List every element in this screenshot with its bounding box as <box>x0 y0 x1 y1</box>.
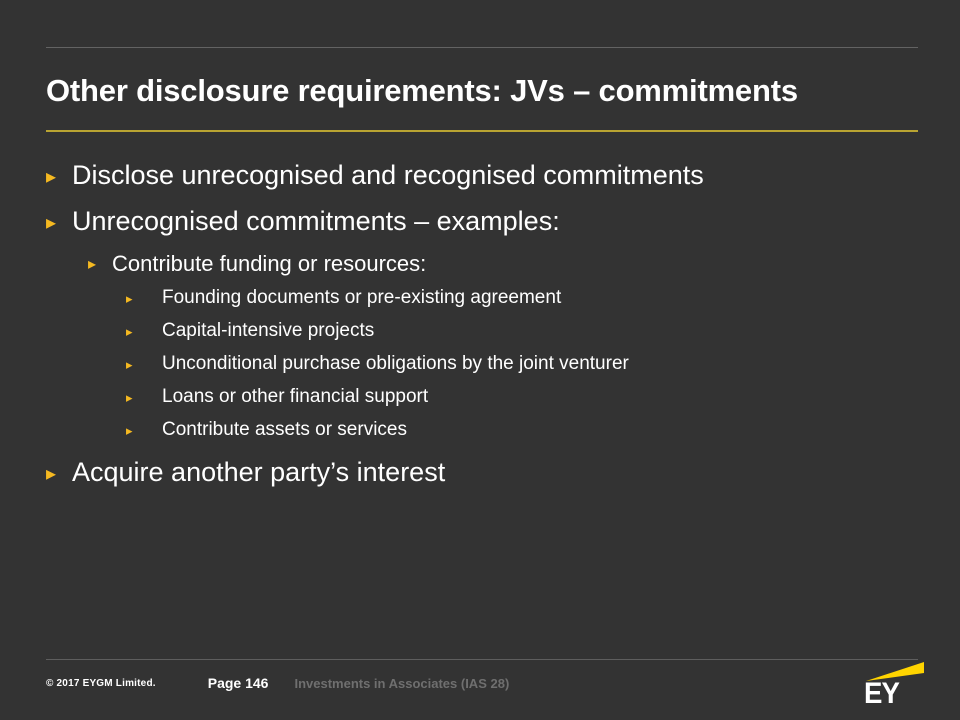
slide: Other disclosure requirements: JVs – com… <box>0 0 960 720</box>
footer: © 2017 EYGM Limited. Page 146 Investment… <box>46 671 918 695</box>
list-item: ▸ Loans or other financial support <box>0 385 960 409</box>
triangle-right-icon: ▸ <box>46 158 72 187</box>
deck-topic-label: Investments in Associates (IAS 28) <box>294 676 509 691</box>
list-item: ▸ Founding documents or pre-existing agr… <box>0 286 960 310</box>
bullet-list: ▸ Disclose unrecognised and recognised c… <box>0 158 960 501</box>
list-item-label: Acquire another party’s interest <box>72 455 960 489</box>
triangle-right-icon: ▸ <box>46 455 72 484</box>
triangle-right-icon: ▸ <box>126 319 162 338</box>
triangle-right-icon: ▸ <box>126 286 162 305</box>
title-bottom-divider <box>46 130 918 132</box>
list-item: ▸ Contribute assets or services <box>0 418 960 442</box>
list-item: ▸ Capital-intensive projects <box>0 319 960 343</box>
list-item: ▸ Contribute funding or resources: <box>0 250 960 278</box>
title-top-divider <box>46 47 918 48</box>
ey-logo: EY <box>862 660 928 712</box>
list-item-label: Unconditional purchase obligations by th… <box>162 352 960 376</box>
copyright-notice: © 2017 EYGM Limited. <box>46 678 156 689</box>
triangle-right-icon: ▸ <box>46 204 72 233</box>
triangle-right-icon: ▸ <box>126 352 162 371</box>
ey-wordmark: EY <box>864 678 899 710</box>
triangle-right-icon: ▸ <box>88 250 112 273</box>
list-item-label: Unrecognised commitments – examples: <box>72 204 960 238</box>
list-item-label: Contribute assets or services <box>162 418 960 442</box>
list-item: ▸ Disclose unrecognised and recognised c… <box>0 158 960 192</box>
triangle-right-icon: ▸ <box>126 385 162 404</box>
list-item-label: Capital-intensive projects <box>162 319 960 343</box>
list-item-label: Loans or other financial support <box>162 385 960 409</box>
page-number: Page 146 <box>208 675 269 691</box>
page-title: Other disclosure requirements: JVs – com… <box>46 73 926 109</box>
triangle-right-icon: ▸ <box>126 418 162 437</box>
list-item: ▸ Unconditional purchase obligations by … <box>0 352 960 376</box>
list-item-label: Contribute funding or resources: <box>112 250 960 278</box>
list-item: ▸ Unrecognised commitments – examples: <box>0 204 960 238</box>
list-item-label: Disclose unrecognised and recognised com… <box>72 158 960 192</box>
footer-divider <box>46 659 918 660</box>
list-item: ▸ Acquire another party’s interest <box>0 455 960 489</box>
list-item-label: Founding documents or pre-existing agree… <box>162 286 960 310</box>
